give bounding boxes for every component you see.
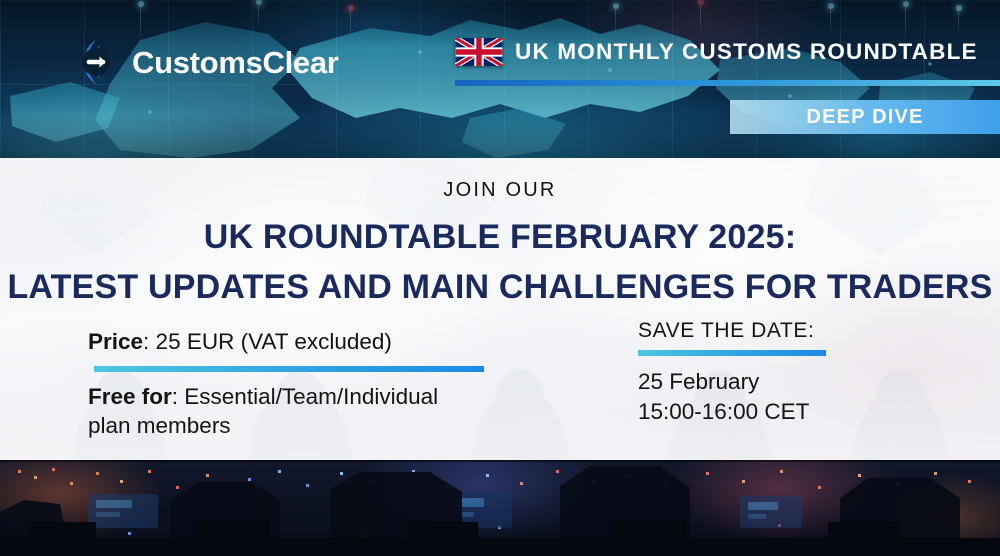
footer-top-edge (0, 460, 1000, 462)
map-pin-marker (140, 6, 141, 40)
free-for-value: : Essential/Team/Individual (172, 384, 438, 409)
banner-main-content: JOIN OUR UK ROUNDTABLE FEBRUARY 2025: LA… (0, 158, 1000, 460)
map-pin-marker (905, 6, 906, 40)
page-title-line-1: UK ROUNDTABLE FEBRUARY 2025: (0, 220, 1000, 254)
header-accent-bar (455, 80, 1000, 86)
city-lights-graphic (0, 460, 1000, 556)
free-for-line: Free for: Essential/Team/Individual (88, 383, 558, 412)
map-pin-marker (258, 4, 259, 26)
price-label: Price (88, 329, 143, 354)
price-value: : 25 EUR (VAT excluded) (143, 329, 392, 354)
free-for-line-2: plan members (88, 412, 558, 441)
brand-name: CustomsClear (132, 47, 339, 78)
save-the-date-divider (638, 350, 826, 356)
banner-header: CustomsClear UK MONTHLY CUSTOMS ROUNDTAB… (0, 0, 1000, 158)
map-pin-marker (700, 4, 701, 34)
deep-dive-badge-label: DEEP DIVE (806, 107, 923, 127)
webinar-promo-banner: CustomsClear UK MONTHLY CUSTOMS ROUNDTAB… (0, 0, 1000, 556)
map-pin-marker (830, 8, 831, 32)
uk-flag-icon (455, 38, 503, 66)
pricing-divider (94, 366, 484, 372)
price-line: Price: 25 EUR (VAT excluded) (88, 328, 558, 357)
header-title: UK MONTHLY CUSTOMS ROUNDTABLE (515, 41, 978, 64)
free-for-label: Free for (88, 384, 172, 409)
map-pin-marker (958, 10, 959, 32)
event-date: 25 February (638, 367, 938, 397)
page-title-line-2: LATEST UPDATES AND MAIN CHALLENGES FOR T… (0, 270, 1000, 304)
map-pin-marker (615, 8, 616, 34)
customsclear-arrow-logo-icon (70, 36, 122, 88)
save-the-date-block: SAVE THE DATE: 25 February 15:00-16:00 C… (638, 320, 938, 426)
audience-silhouettes-graphic (0, 460, 1000, 556)
event-time: 15:00-16:00 CET (638, 397, 938, 427)
pricing-block: Price: 25 EUR (VAT excluded) Free for: E… (88, 328, 558, 440)
save-the-date-label: SAVE THE DATE: (638, 320, 938, 341)
header-title-block: UK MONTHLY CUSTOMS ROUNDTABLE (455, 38, 1000, 66)
banner-footer (0, 460, 1000, 556)
brand-logo[interactable]: CustomsClear (70, 36, 339, 88)
map-pin-marker (350, 10, 351, 38)
eyebrow-text: JOIN OUR (0, 180, 1000, 200)
deep-dive-badge: DEEP DIVE (730, 100, 1000, 134)
